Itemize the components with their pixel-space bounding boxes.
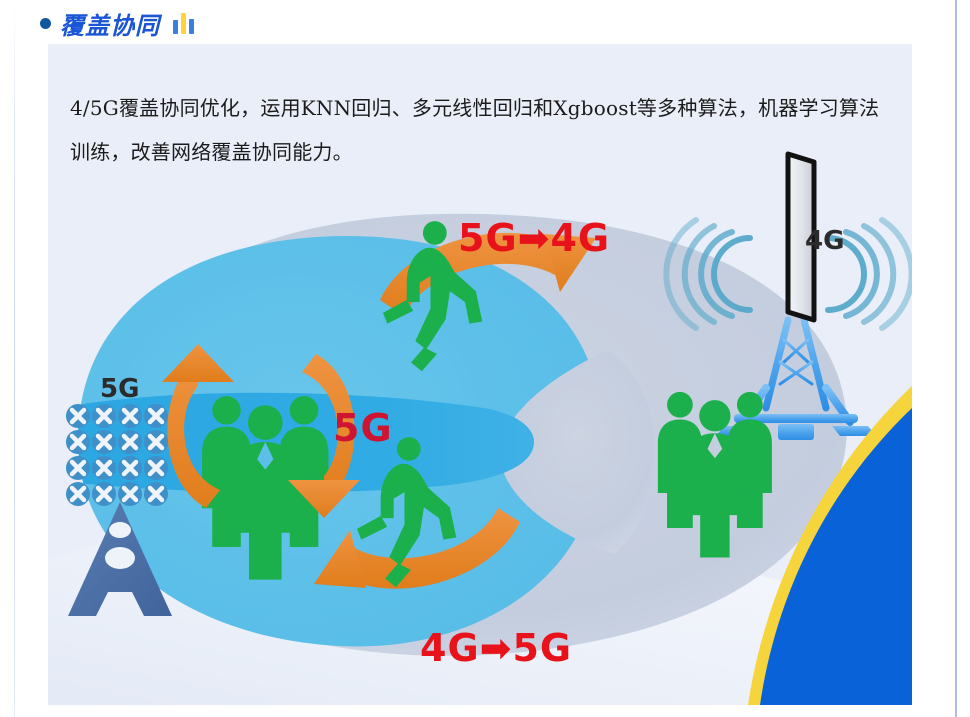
content-panel: 4/5G覆盖协同优化，运用KNN回归、多元线性回归和Xgboost等多种算法，机…	[48, 44, 912, 705]
signal-wave-icon	[828, 220, 912, 328]
right-edge-rule	[955, 0, 957, 717]
page-title: 覆盖协同	[60, 6, 160, 41]
coverage-illustration: 5G➡4G 4G➡5G 5G 5G 4G	[48, 140, 912, 705]
left-edge-rule	[14, 0, 15, 717]
panel-antenna-icon	[788, 154, 814, 320]
bar-chart-icon	[173, 12, 194, 34]
bullet-dot-icon	[40, 18, 51, 29]
illustration-canvas	[48, 140, 912, 705]
section-heading: 覆盖协同	[40, 6, 194, 40]
